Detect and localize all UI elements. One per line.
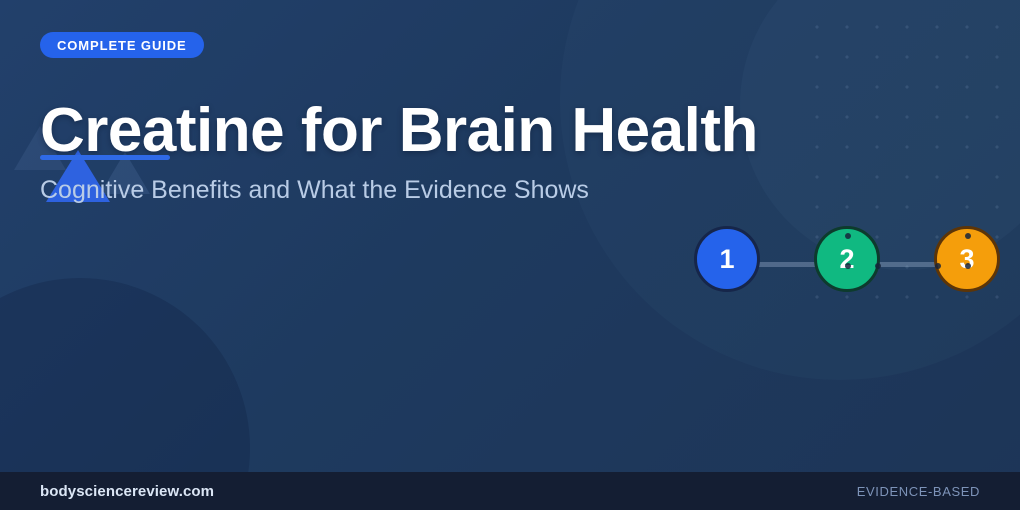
footer-bar: bodysciencereview.com EVIDENCE-BASED: [0, 472, 1020, 510]
complete-guide-badge: COMPLETE GUIDE: [40, 32, 204, 58]
step-number-2: 2: [839, 244, 854, 275]
footer-evidence-tag: EVIDENCE-BASED: [857, 484, 980, 499]
step-connector-1: [752, 262, 820, 267]
overlay-dot: [935, 263, 941, 269]
step-circle-1[interactable]: 1: [694, 226, 760, 292]
step-number-1: 1: [719, 244, 734, 275]
background-arc-right: [560, 0, 1020, 380]
overlay-dot: [965, 263, 971, 269]
overlay-dot: [875, 263, 881, 269]
title-accent-bar: [40, 155, 170, 160]
slide-canvas: COMPLETE GUIDE Creatine for Brain Health…: [0, 0, 1020, 510]
page-subtitle: Cognitive Benefits and What the Evidence…: [40, 174, 589, 206]
badge-label: COMPLETE GUIDE: [57, 38, 187, 53]
overlay-dot: [965, 233, 971, 239]
overlay-dot: [845, 233, 851, 239]
overlay-dot: [845, 263, 851, 269]
footer-site-name[interactable]: bodysciencereview.com: [40, 483, 214, 500]
step-connector-2: [872, 262, 940, 267]
step-number-3: 3: [959, 244, 974, 275]
